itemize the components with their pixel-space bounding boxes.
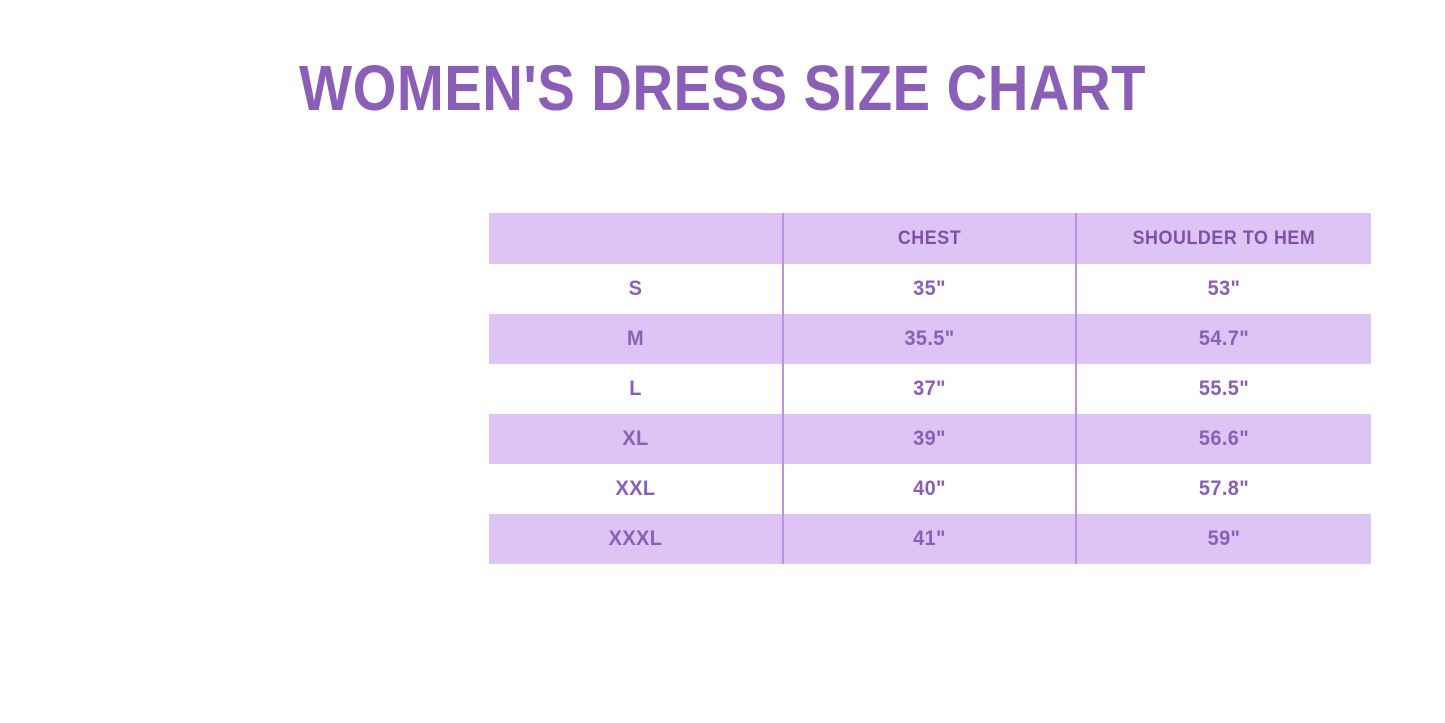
size-label: XXXL — [496, 527, 774, 551]
cell-chest: 37" — [783, 364, 1076, 414]
cell-chest: 35.5" — [783, 314, 1076, 364]
table-header-row: CHEST SHOULDER TO HEM — [489, 213, 1371, 264]
table-row: L 37" 55.5" — [489, 364, 1371, 414]
cell-chest: 41" — [783, 514, 1076, 564]
shoulder-to-hem-value: 54.7" — [1084, 327, 1363, 351]
chest-value: 39" — [791, 427, 1067, 451]
shoulder-to-hem-value: 53" — [1084, 277, 1363, 301]
cell-shoulder-to-hem: 59" — [1076, 514, 1371, 564]
cell-chest: 39" — [783, 414, 1076, 464]
column-header-chest: CHEST — [792, 213, 1067, 264]
cell-size: M — [489, 314, 783, 364]
table-row: S 35" 53" — [489, 264, 1371, 314]
table-body: S 35" 53" M 35.5" 54.7" — [489, 264, 1371, 564]
shoulder-to-hem-value: 57.8" — [1084, 477, 1363, 501]
chest-value: 41" — [791, 527, 1067, 551]
size-chart-page: WOMEN'S DRESS SIZE CHART CHEST SHOULDER … — [0, 0, 1445, 723]
size-chart-table: CHEST SHOULDER TO HEM S 35" 53" M — [489, 213, 1371, 564]
cell-size: XL — [489, 414, 783, 464]
cell-chest: 40" — [783, 464, 1076, 514]
cell-chest: 35" — [783, 264, 1076, 314]
cell-shoulder-to-hem: 55.5" — [1076, 364, 1371, 414]
table-header: CHEST SHOULDER TO HEM — [489, 213, 1371, 264]
table-row: M 35.5" 54.7" — [489, 314, 1371, 364]
column-header-size — [498, 213, 774, 264]
size-label: M — [496, 327, 774, 351]
page-title: WOMEN'S DRESS SIZE CHART — [87, 52, 1359, 124]
chest-value: 35" — [791, 277, 1067, 301]
cell-size: L — [489, 364, 783, 414]
table-row: XXXL 41" 59" — [489, 514, 1371, 564]
shoulder-to-hem-value: 56.6" — [1084, 427, 1363, 451]
cell-shoulder-to-hem: 57.8" — [1076, 464, 1371, 514]
column-header-shoulder-to-hem: SHOULDER TO HEM — [1085, 213, 1362, 264]
size-label: XL — [496, 427, 774, 451]
chest-value: 37" — [791, 377, 1067, 401]
cell-size: XXXL — [489, 514, 783, 564]
shoulder-to-hem-value: 59" — [1084, 527, 1363, 551]
cell-shoulder-to-hem: 56.6" — [1076, 414, 1371, 464]
size-label: L — [496, 377, 774, 401]
cell-shoulder-to-hem: 53" — [1076, 264, 1371, 314]
table-row: XL 39" 56.6" — [489, 414, 1371, 464]
cell-size: XXL — [489, 464, 783, 514]
size-label: S — [496, 277, 774, 301]
size-label: XXL — [496, 477, 774, 501]
chest-value: 40" — [791, 477, 1067, 501]
shoulder-to-hem-value: 55.5" — [1084, 377, 1363, 401]
chest-value: 35.5" — [791, 327, 1067, 351]
cell-shoulder-to-hem: 54.7" — [1076, 314, 1371, 364]
cell-size: S — [489, 264, 783, 314]
table-row: XXL 40" 57.8" — [489, 464, 1371, 514]
